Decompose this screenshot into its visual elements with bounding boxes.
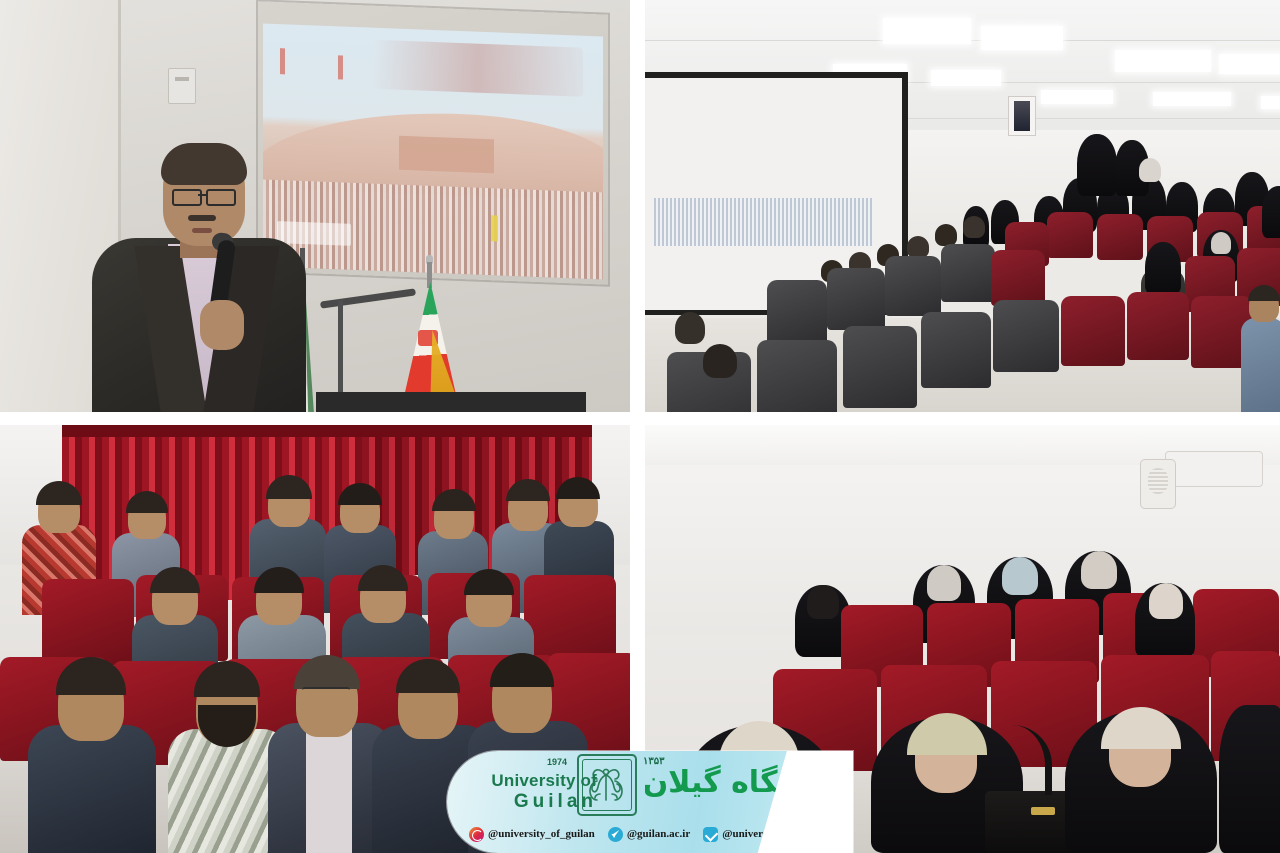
social-instagram[interactable]: @university_of_guilan (469, 827, 595, 842)
led-panel (931, 70, 1001, 86)
auditorium-seat (1127, 292, 1189, 360)
air-conditioner-unit (1165, 451, 1263, 487)
auditorium-seat (991, 250, 1045, 306)
attendee-shirt (306, 725, 352, 853)
wall-socket-icon (168, 68, 196, 104)
attendee-hijab (1149, 583, 1183, 619)
glasses-icon (302, 687, 350, 700)
attendee-hijab (1139, 158, 1161, 182)
english-name-line-2: Guilan (475, 791, 597, 813)
led-panel (981, 26, 1063, 50)
auditorium-seat (1047, 212, 1093, 258)
attendee-body (28, 725, 156, 853)
curtain-rail (62, 425, 592, 437)
english-university-name: University of Guilan (475, 771, 597, 813)
attendee-head (675, 312, 705, 344)
glasses-lens-left-icon (172, 189, 202, 206)
projected-slide (263, 23, 603, 279)
auditorium-seat (993, 300, 1059, 372)
led-panel (1261, 96, 1280, 109)
glasses-bridge (198, 194, 206, 196)
auditorium-seat (921, 312, 991, 388)
auditorium-seat (767, 280, 827, 346)
dark-table (316, 392, 586, 412)
theatre-seat (42, 579, 134, 665)
founding-year-gregorian: 1974 (547, 757, 567, 767)
attendee-head (907, 236, 929, 258)
twitter-icon[interactable] (703, 827, 718, 842)
auditorium-seat (1061, 296, 1125, 366)
screen-crowd (654, 198, 874, 246)
attendee-hijab (1002, 557, 1038, 595)
attendee-hijab (1081, 551, 1117, 589)
english-name-line-1: University of (475, 771, 597, 791)
slide-yellow-banner (491, 215, 498, 241)
attendee-chador (1145, 242, 1181, 294)
collage-canvas: 1974 ۱۳۵۳ (0, 0, 1280, 853)
attendee-head (963, 216, 985, 238)
persian-university-name: دانشگاه گیلان (645, 753, 845, 817)
iran-flag-pole (427, 262, 432, 288)
led-panel (1115, 50, 1211, 72)
telegram-handle: @guilan.ac.ir (627, 828, 690, 840)
handbag-clasp (1031, 807, 1055, 815)
led-panel (1041, 90, 1113, 104)
attendee-hijab (1211, 232, 1231, 254)
social-twitter[interactable]: @university_of_guilan (703, 827, 829, 842)
photo-top-left (0, 0, 630, 412)
attendee-body (1241, 318, 1280, 412)
speaker-hair (161, 143, 247, 185)
glasses-lens-right-icon (206, 189, 236, 206)
auditorium-seat (941, 244, 995, 302)
microphone-stand-arm (320, 288, 416, 308)
instagram-handle: @university_of_guilan (488, 828, 595, 840)
attendee-chador (1219, 705, 1280, 853)
speaker-mouth (192, 228, 212, 233)
projection-screen (258, 1, 608, 284)
telegram-icon[interactable] (608, 827, 623, 842)
social-telegram[interactable]: @guilan.ac.ir (608, 827, 690, 842)
attendee-hijab (927, 565, 961, 601)
led-panel (883, 18, 971, 44)
auditorium-seat (1097, 214, 1143, 260)
auditorium-seat (843, 326, 917, 408)
theatre-seat (524, 575, 616, 661)
auditorium-seat (885, 256, 941, 316)
led-panel (1219, 54, 1280, 74)
led-panel (1153, 92, 1231, 106)
auditorium-seat (827, 268, 885, 330)
photo-top-right (645, 0, 1280, 412)
social-handles-row: @university_of_guilan @guilan.ac.ir @uni… (469, 823, 843, 845)
speaker-hand (200, 300, 244, 350)
attendee-head (703, 344, 737, 378)
attendee-head (935, 224, 957, 246)
slide-flag-2 (338, 55, 343, 79)
wall-speaker (1140, 459, 1176, 509)
attendee-chador (1077, 134, 1117, 196)
university-of-guilan-logo-banner: 1974 ۱۳۵۳ (447, 751, 853, 853)
slide-fort (399, 136, 494, 174)
auditorium-seat (757, 340, 837, 412)
slide-watermark (277, 221, 352, 246)
framed-portrait (1008, 96, 1036, 136)
attendee-hijab (807, 585, 839, 619)
slide-title-band (372, 40, 583, 97)
speaker-moustache (188, 215, 216, 221)
slide-flag-1 (280, 48, 285, 74)
twitter-handle: @university_of_guilan (722, 828, 829, 840)
instagram-icon[interactable] (469, 827, 484, 842)
